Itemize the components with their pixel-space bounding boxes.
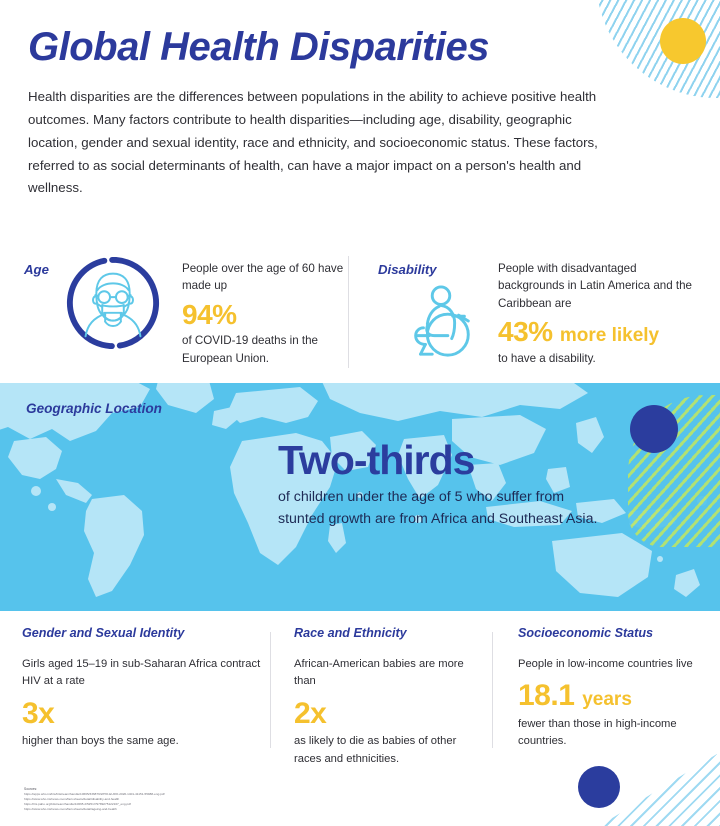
column-heading: Gender and Sexual Identity <box>22 626 262 640</box>
elderly-person-with-mask-icon <box>64 254 162 352</box>
column-lead-text: Girls aged 15–19 in sub-Saharan Africa c… <box>22 656 262 691</box>
geographic-location-label: Geographic Location <box>26 401 162 416</box>
column-stat-unit: years <box>582 689 632 710</box>
column-heading: Socioeconomic Status <box>518 626 708 640</box>
age-lead-text: People over the age of 60 have made up <box>182 260 347 295</box>
header: Global Health Disparities Health dispari… <box>28 26 648 200</box>
column-stat-value: 3x <box>22 697 54 730</box>
map-blue-circle-icon <box>630 405 678 453</box>
stats-row-bottom: Gender and Sexual Identity Girls aged 15… <box>0 626 720 766</box>
disability-text: People with disadvantaged backgrounds in… <box>498 260 706 367</box>
vertical-divider <box>348 256 349 368</box>
socioeconomic-status-block: Socioeconomic Status People in low-incom… <box>518 626 708 751</box>
column-lead-text: African-American babies are more than <box>294 656 484 691</box>
disability-block: Disability <box>368 248 708 382</box>
column-stat: 2x <box>294 697 484 731</box>
yellow-circle-icon <box>660 18 706 64</box>
page-title: Global Health Disparities <box>28 26 648 68</box>
column-stat: 3x <box>22 697 262 731</box>
age-stat-value: 94% <box>182 299 347 330</box>
source-url: https://www.who.int/news-room/fact-sheet… <box>24 807 424 812</box>
column-stat-value: 2x <box>294 697 326 730</box>
wheelchair-user-icon <box>402 284 480 360</box>
age-trail-text: of COVID-19 deaths in the European Union… <box>182 332 347 367</box>
column-lead-text: People in low-income countries live <box>518 656 708 673</box>
age-text: People over the age of 60 have made up 9… <box>182 260 347 367</box>
infographic-page: Global Health Disparities Health dispari… <box>0 0 720 826</box>
vertical-divider <box>270 632 271 748</box>
geographic-stat-value: Two-thirds <box>278 440 608 481</box>
column-heading: Race and Ethnicity <box>294 626 484 640</box>
age-block: Age <box>22 248 342 382</box>
column-trail-text: as likely to die as babies of other race… <box>294 733 484 768</box>
column-trail-text: higher than boys the same age. <box>22 733 262 750</box>
disability-lead-text: People with disadvantaged backgrounds in… <box>498 260 706 312</box>
sources-footnote: Sources: https://apps.who.int/iris/bitst… <box>24 787 424 812</box>
geographic-body-text: of children under the age of 5 who suffe… <box>278 487 608 530</box>
race-and-ethnicity-block: Race and Ethnicity African-American babi… <box>294 626 484 768</box>
disability-stat-unit: more likely <box>560 325 659 346</box>
intro-paragraph: Health disparities are the differences b… <box>28 86 624 200</box>
disability-stat: 43% more likely <box>498 316 706 347</box>
column-stat-value: 18.1 <box>518 679 574 712</box>
column-stat: 18.1 years <box>518 679 708 713</box>
disability-trail-text: to have a disability. <box>498 350 706 367</box>
column-trail-text: fewer than those in high-income countrie… <box>518 716 708 751</box>
disability-label: Disability <box>378 262 437 277</box>
age-label: Age <box>24 262 49 277</box>
vertical-divider <box>492 632 493 748</box>
gender-and-sexual-identity-block: Gender and Sexual Identity Girls aged 15… <box>22 626 262 751</box>
geographic-copy: Two-thirds of children under the age of … <box>278 440 608 530</box>
stats-row-top: Age <box>0 248 720 382</box>
geographic-location-band: Geographic Location Two-thirds of childr… <box>0 383 720 611</box>
disability-stat-value: 43% <box>498 316 553 347</box>
blue-circle-icon <box>578 766 620 808</box>
